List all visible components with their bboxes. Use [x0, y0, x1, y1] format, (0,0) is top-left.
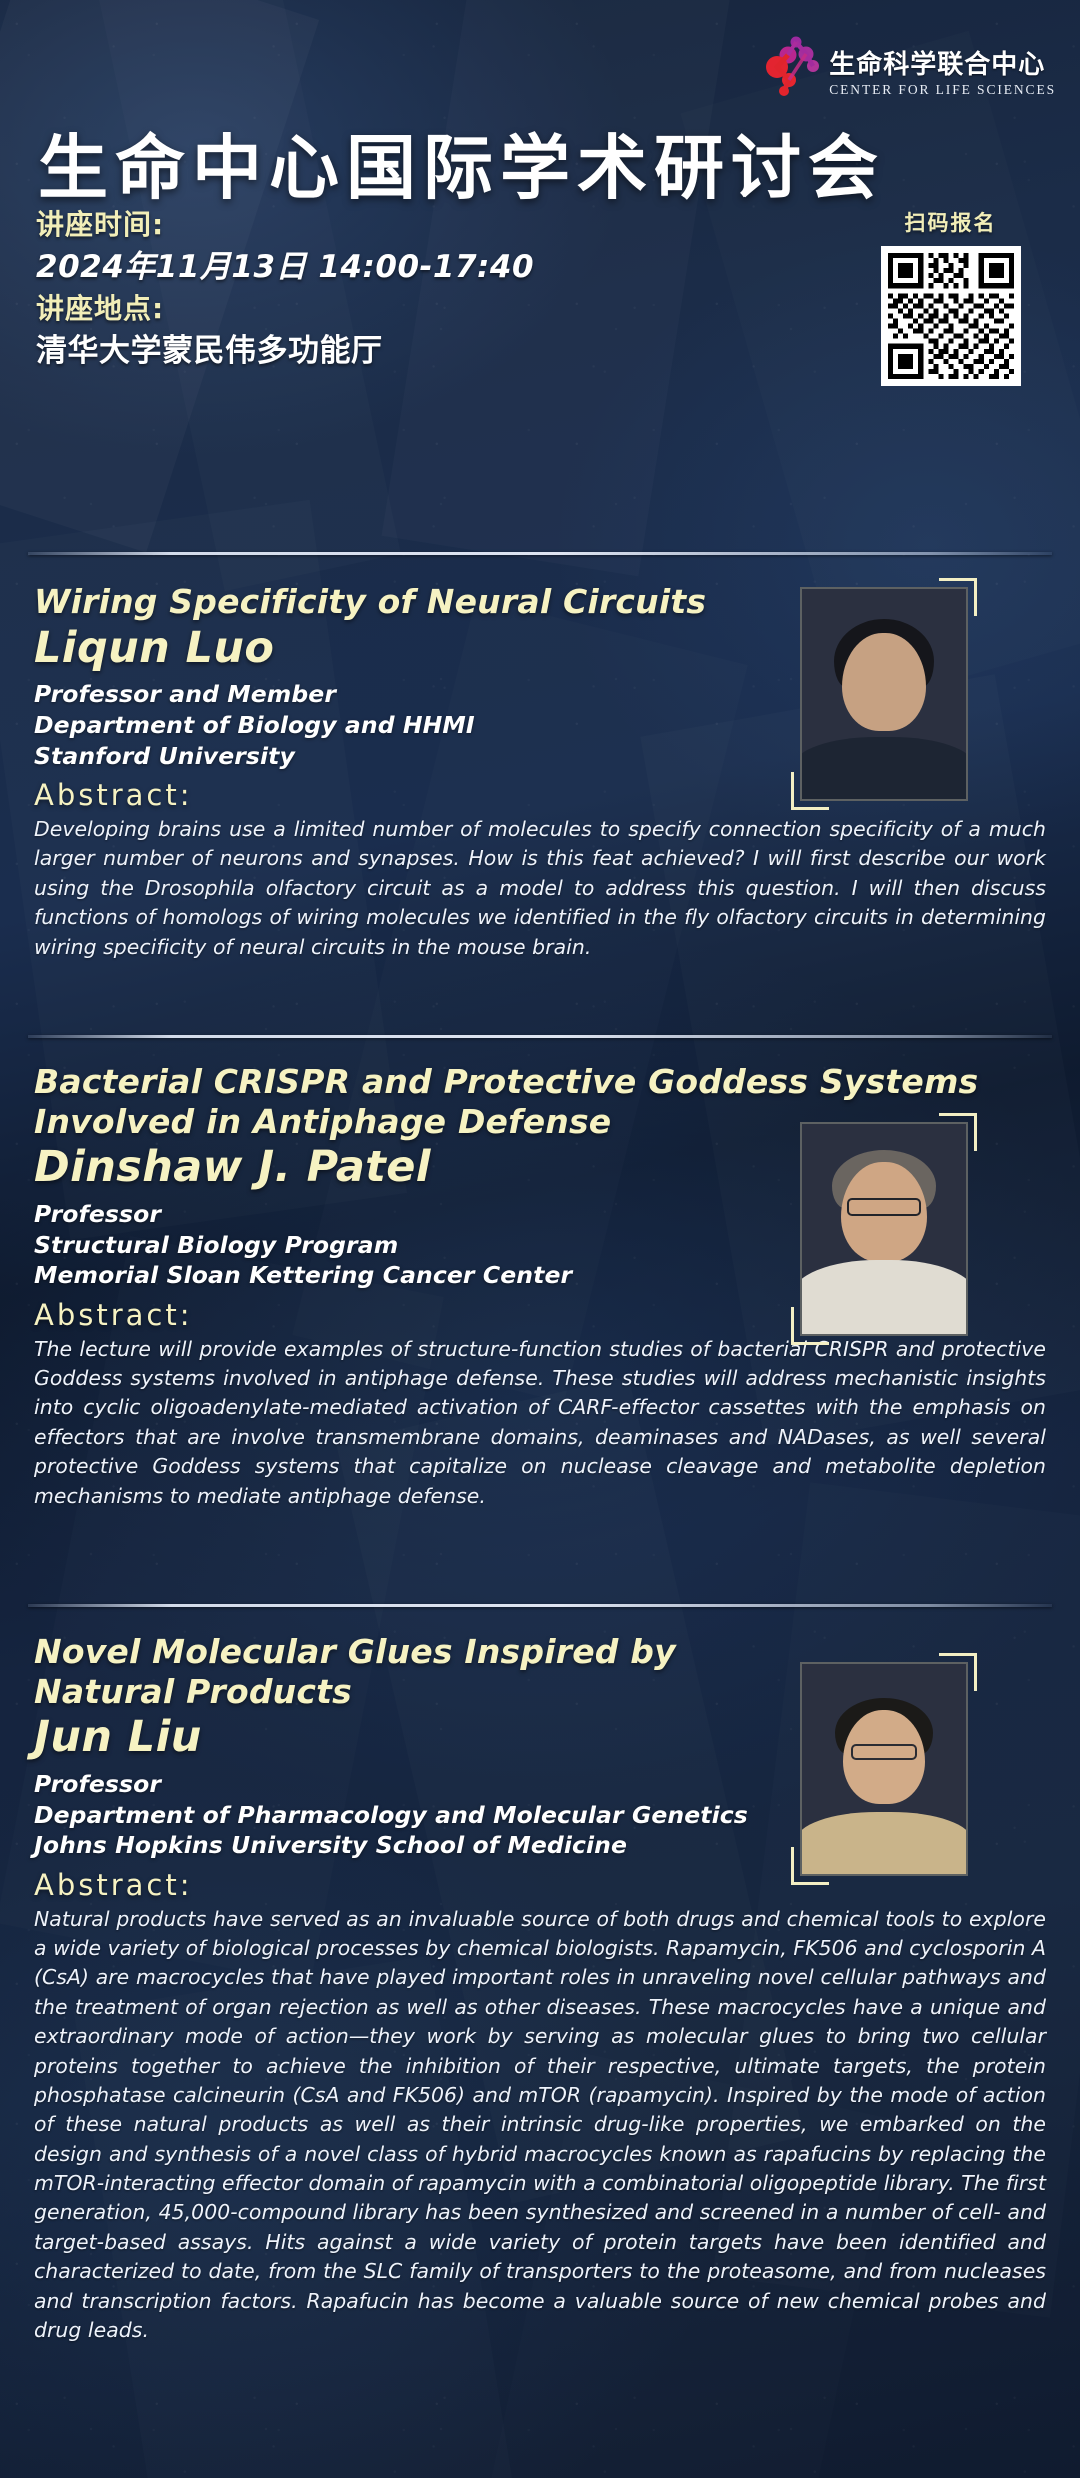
logo-english-name: CENTER FOR LIFE SCIENCES — [829, 83, 1056, 97]
lecture-place-label: 讲座地点: — [36, 289, 676, 329]
lecture-time-label: 讲座时间: — [36, 205, 676, 245]
talk-title-1: Wiring Specificity of Neural Circuits — [34, 582, 750, 622]
affiliation-line: Memorial Sloan Kettering Cancer Center — [34, 1260, 750, 1291]
affiliation-line: Structural Biology Program — [34, 1230, 750, 1261]
registration-qr-block[interactable]: 扫码报名 — [863, 207, 1038, 386]
affiliation-line: Department of Biology and HHMI — [34, 710, 750, 741]
speaker-affiliation-2: Professor Structural Biology Program Mem… — [34, 1199, 750, 1291]
molecule-logo-icon — [765, 34, 823, 96]
speaker-portrait-2 — [800, 1122, 968, 1336]
event-meta: 讲座时间: 2024年11月13日 14:00-17:40 讲座地点: 清华大学… — [36, 205, 676, 373]
section-divider-2 — [28, 1035, 1052, 1038]
abstract-body-3: Natural products have served as an inval… — [34, 1905, 1046, 2346]
speaker-name-2: Dinshaw J. Patel — [34, 1143, 750, 1193]
brand-logo: 生命科学联合中心 CENTER FOR LIFE SCIENCES — [765, 34, 1056, 96]
speaker-portrait-3 — [800, 1662, 968, 1876]
speaker-affiliation-3: Professor Department of Pharmacology and… — [34, 1769, 750, 1861]
speaker-photo-2 — [800, 1122, 968, 1336]
section-divider-1 — [28, 552, 1052, 555]
eyeglasses-icon — [851, 1744, 917, 1760]
section-divider-3 — [28, 1604, 1052, 1607]
affiliation-line: Professor and Member — [34, 679, 750, 710]
eyeglasses-icon — [847, 1198, 921, 1216]
poster-root: 生命科学联合中心 CENTER FOR LIFE SCIENCES 生命中心国际… — [0, 0, 1080, 2478]
affiliation-line: Stanford University — [34, 741, 750, 772]
lecture-place-value: 清华大学蒙民伟多功能厅 — [36, 329, 676, 373]
page-title: 生命中心国际学术研讨会 — [38, 112, 1042, 213]
affiliation-line: Professor — [34, 1199, 750, 1230]
affiliation-line: Johns Hopkins University School of Medic… — [34, 1830, 750, 1861]
abstract-body-2: The lecture will provide examples of str… — [34, 1335, 1046, 1511]
qr-caption: 扫码报名 — [863, 207, 1038, 237]
talk-title-3: Novel Molecular Glues Inspired by Natura… — [34, 1632, 750, 1711]
qr-code-image[interactable] — [881, 246, 1021, 386]
affiliation-line: Professor — [34, 1769, 750, 1800]
speaker-name-1: Liqun Luo — [34, 624, 750, 674]
logo-chinese-name: 生命科学联合中心 — [829, 52, 1045, 78]
speaker-photo-1 — [800, 587, 968, 801]
speaker-name-3: Jun Liu — [34, 1713, 750, 1763]
affiliation-line: Department of Pharmacology and Molecular… — [34, 1800, 750, 1831]
speaker-affiliation-1: Professor and Member Department of Biolo… — [34, 679, 750, 771]
abstract-body-1: Developing brains use a limited number o… — [34, 815, 1046, 962]
speaker-portrait-1 — [800, 587, 968, 801]
lecture-time-value: 2024年11月13日 14:00-17:40 — [36, 245, 676, 289]
speaker-photo-3 — [800, 1662, 968, 1876]
